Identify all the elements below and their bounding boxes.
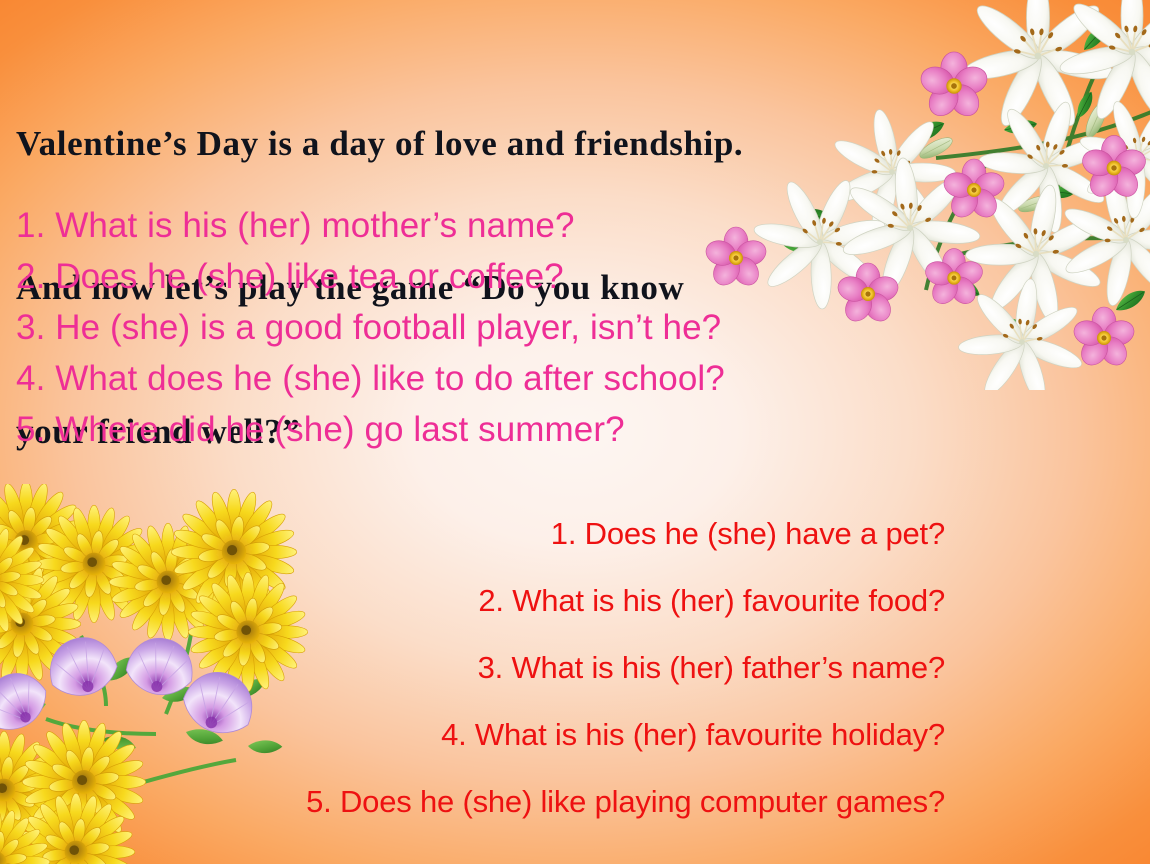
red-question-1: 1. Does he (she) have a pet? bbox=[205, 500, 945, 567]
heading-line-1: Valentine’s Day is a day of love and fri… bbox=[16, 120, 916, 168]
pink-question-4: 4. What does he (she) like to do after s… bbox=[16, 353, 916, 404]
valentines-quiz-slide: Valentine’s Day is a day of love and fri… bbox=[0, 0, 1150, 864]
pink-question-list: 1. What is his (her) mother’s name? 2. D… bbox=[16, 200, 916, 455]
pink-question-3: 3. He (she) is a good football player, i… bbox=[16, 302, 916, 353]
pink-question-1: 1. What is his (her) mother’s name? bbox=[16, 200, 916, 251]
red-question-list: 1. Does he (she) have a pet? 2. What is … bbox=[205, 500, 945, 835]
pink-question-5: 5. Where did he (she) go last summer? bbox=[16, 404, 916, 455]
pink-question-2: 2. Does he (she) like tea or coffee? bbox=[16, 251, 916, 302]
red-question-3: 3. What is his (her) father’s name? bbox=[205, 634, 945, 701]
red-question-4: 4. What is his (her) favourite holiday? bbox=[205, 701, 945, 768]
red-question-5: 5. Does he (she) like playing computer g… bbox=[205, 768, 945, 835]
red-question-2: 2. What is his (her) favourite food? bbox=[205, 567, 945, 634]
